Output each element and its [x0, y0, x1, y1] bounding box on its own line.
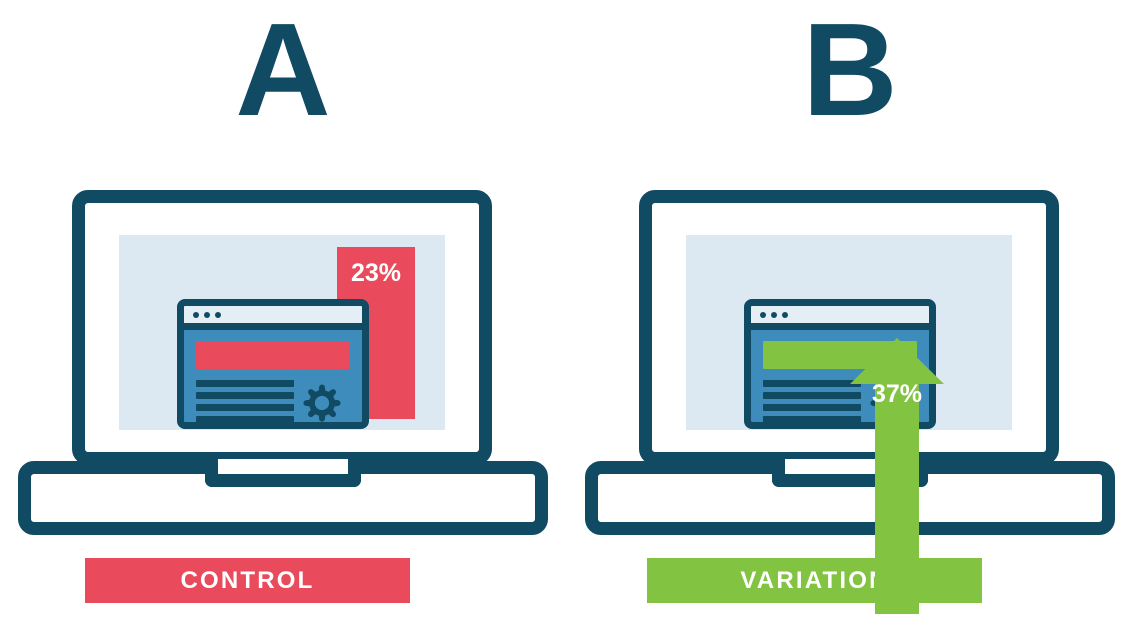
- browser-window-b: [744, 299, 936, 429]
- browser-titlebar-b: [751, 306, 929, 330]
- variant-label-variation: VARIATION: [647, 558, 982, 603]
- text-line: [196, 380, 294, 387]
- laptop-lid-b: [639, 190, 1059, 465]
- window-dot-icon: [771, 312, 777, 318]
- variant-label-control: CONTROL: [85, 558, 410, 603]
- text-line: [196, 416, 294, 423]
- text-line: [763, 416, 861, 423]
- laptop-a: 23%: [18, 190, 548, 535]
- window-dot-icon: [193, 312, 199, 318]
- variant-letter-b: B: [567, 4, 1133, 136]
- variant-a: A 23%: [0, 0, 566, 637]
- page-banner-a: [196, 341, 350, 369]
- window-dot-icon: [215, 312, 221, 318]
- laptop-trackpad-notch-b: [772, 461, 928, 487]
- text-line: [763, 428, 861, 429]
- metric-arrow-b: 37%: [847, 380, 947, 409]
- browser-window-a: [177, 299, 369, 429]
- window-dot-icon: [760, 312, 766, 318]
- ab-test-illustration: A 23%: [0, 0, 1133, 637]
- laptop-trackpad-notch-a: [205, 461, 361, 487]
- laptop-lid-a: 23%: [72, 190, 492, 465]
- variant-letter-a: A: [0, 4, 566, 136]
- page-banner-b: [763, 341, 917, 369]
- screen-content-a: 23%: [119, 235, 445, 430]
- gear-icon: [301, 382, 343, 424]
- laptop-base-a: [18, 461, 548, 535]
- window-dot-icon: [782, 312, 788, 318]
- gear-wrap-a: [294, 380, 350, 424]
- laptop-base-b: [585, 461, 1115, 535]
- text-line: [196, 392, 294, 399]
- browser-body-a: [184, 330, 362, 422]
- text-lines-a: [196, 380, 294, 429]
- window-dot-icon: [204, 312, 210, 318]
- variant-b: B: [567, 0, 1133, 637]
- text-line: [196, 404, 294, 411]
- browser-titlebar-a: [184, 306, 362, 330]
- browser-lower-a: [196, 380, 350, 429]
- text-line: [196, 428, 294, 429]
- laptop-b: 37%: [585, 190, 1115, 535]
